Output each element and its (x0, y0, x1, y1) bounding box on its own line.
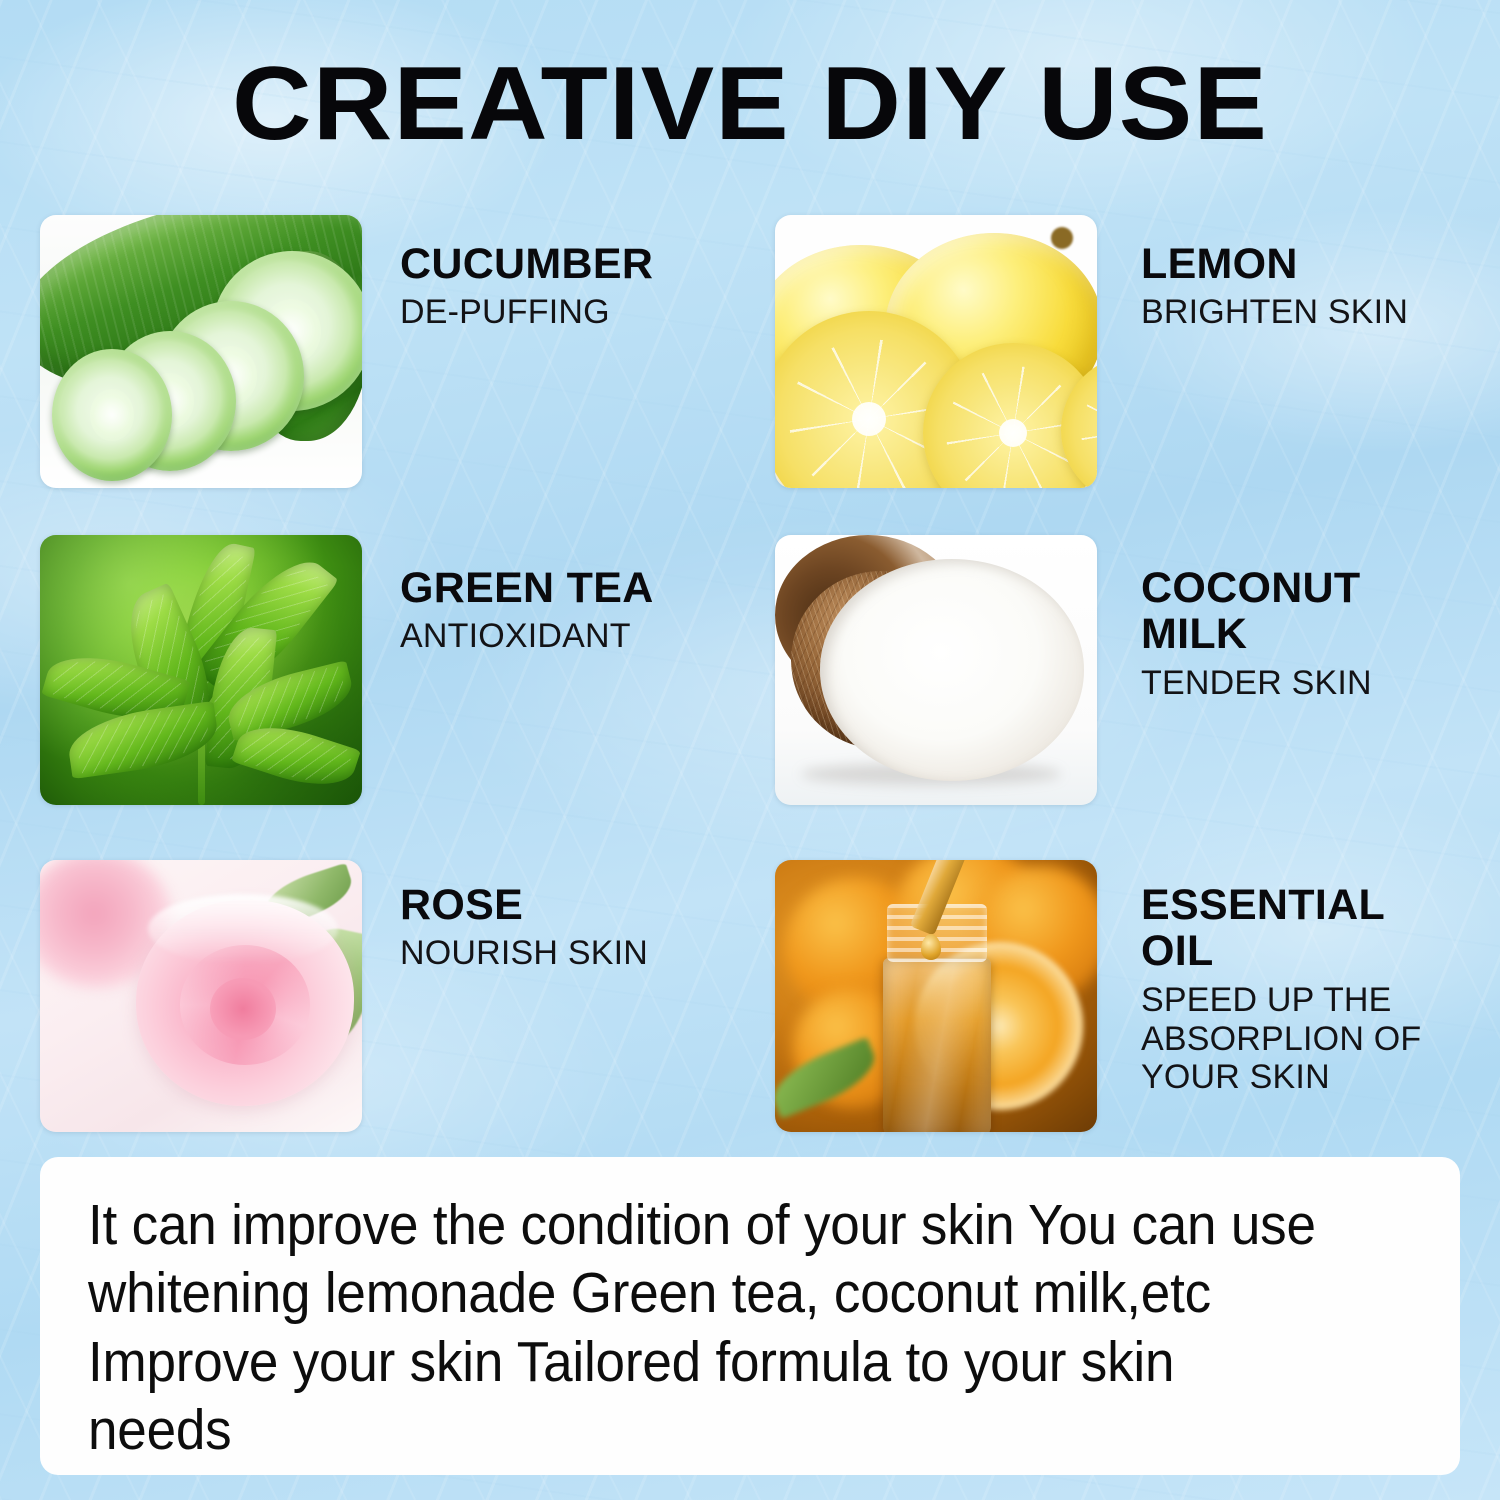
ingredient-benefit: NOURISH SKIN (400, 934, 648, 973)
ingredient-name: GREEN TEA (400, 565, 654, 611)
ingredient-name: COCONUT MILK (1141, 565, 1441, 658)
ingredient-caption: CUCUMBER DE-PUFFING (362, 215, 653, 332)
ingredient-grid: CUCUMBER DE-PUFFING LEMON BRIGHTEN SKIN (40, 215, 1465, 1150)
ingredient-name: ROSE (400, 882, 648, 928)
ingredient-caption: ESSENTIAL OIL SPEED UP THE ABSORPLION OF… (1097, 860, 1451, 1097)
ingredient-caption: LEMON BRIGHTEN SKIN (1097, 215, 1408, 332)
ingredient-caption: GREEN TEA ANTIOXIDANT (362, 535, 654, 656)
coconut-photo (775, 535, 1097, 805)
ingredient-benefit: ANTIOXIDANT (400, 617, 654, 656)
ingredient-row: CUCUMBER DE-PUFFING LEMON BRIGHTEN SKIN (40, 215, 1465, 535)
page-title: CREATIVE DIY USE (0, 52, 1500, 156)
description-text: It can improve the condition of your ski… (88, 1191, 1323, 1465)
ingredient-caption: ROSE NOURISH SKIN (362, 860, 648, 973)
description-panel: It can improve the condition of your ski… (40, 1157, 1460, 1475)
essential-oil-photo (775, 860, 1097, 1132)
green-tea-photo (40, 535, 362, 805)
ingredient-name: LEMON (1141, 241, 1408, 287)
ingredient-benefit: BRIGHTEN SKIN (1141, 293, 1408, 332)
ingredient-name: CUCUMBER (400, 241, 653, 287)
ingredient-item-lemon: LEMON BRIGHTEN SKIN (775, 215, 1465, 535)
infographic-page: CREATIVE DIY USE CUCUMBER DE-PUFFING (0, 0, 1500, 1500)
ingredient-benefit: TENDER SKIN (1141, 664, 1441, 703)
ingredient-benefit: SPEED UP THE ABSORPLION OF YOUR SKIN (1141, 981, 1451, 1097)
ingredient-name: ESSENTIAL OIL (1141, 882, 1441, 975)
ingredient-item-rose: ROSE NOURISH SKIN (40, 860, 775, 1150)
ingredient-item-coconut-milk: COCONUT MILK TENDER SKIN (775, 535, 1465, 860)
ingredient-row: ROSE NOURISH SKIN E (40, 860, 1465, 1150)
ingredient-row: GREEN TEA ANTIOXIDANT COCONUT MILK TENDE… (40, 535, 1465, 860)
ingredient-item-cucumber: CUCUMBER DE-PUFFING (40, 215, 775, 535)
ingredient-benefit: DE-PUFFING (400, 293, 653, 332)
cucumber-photo (40, 215, 362, 488)
ingredient-item-essential-oil: ESSENTIAL OIL SPEED UP THE ABSORPLION OF… (775, 860, 1465, 1150)
rose-photo (40, 860, 362, 1132)
lemon-photo (775, 215, 1097, 488)
ingredient-caption: COCONUT MILK TENDER SKIN (1097, 535, 1441, 703)
ingredient-item-green-tea: GREEN TEA ANTIOXIDANT (40, 535, 775, 860)
